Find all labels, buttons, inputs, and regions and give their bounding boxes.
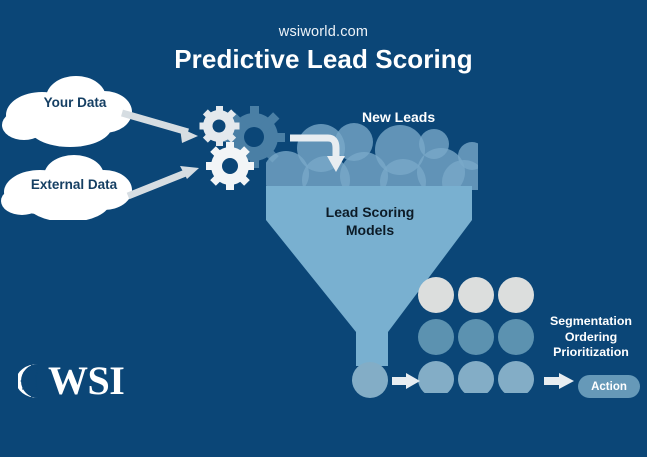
grid-circle bbox=[418, 361, 454, 393]
gear-small-top-icon bbox=[200, 106, 240, 146]
outcome-line-segmentation: Segmentation bbox=[539, 314, 643, 330]
funnel-label-line1: Lead Scoring bbox=[300, 203, 440, 221]
grid-circle bbox=[498, 319, 534, 355]
wsi-logo: WSI bbox=[18, 361, 124, 401]
action-badge[interactable]: Action bbox=[578, 375, 640, 398]
new-leads-label: New Leads bbox=[362, 109, 435, 125]
cloud-label-your-data: Your Data bbox=[20, 95, 130, 110]
arrow-grid-to-action bbox=[544, 370, 576, 392]
wsi-wordmark: WSI bbox=[48, 361, 124, 401]
output-grid bbox=[418, 277, 536, 393]
outcome-list: Segmentation Ordering Prioritization bbox=[539, 314, 643, 361]
arrow-external-data-to-gears bbox=[128, 166, 199, 196]
lead-circle bbox=[419, 129, 449, 159]
grid-row-teal bbox=[418, 319, 534, 355]
grid-row-light bbox=[418, 277, 534, 313]
arrow-your-data-to-gears bbox=[122, 113, 198, 143]
funnel-label: Lead Scoring Models bbox=[300, 203, 440, 239]
grid-circle bbox=[418, 319, 454, 355]
funnel-output-circle bbox=[350, 361, 390, 401]
outcome-line-ordering: Ordering bbox=[539, 330, 643, 346]
funnel-label-line2: Models bbox=[300, 221, 440, 239]
outcome-line-prioritization: Prioritization bbox=[539, 345, 643, 361]
grid-circle bbox=[418, 277, 454, 313]
grid-circle bbox=[498, 277, 534, 313]
infographic-canvas: wsiworld.com Predictive Lead Scoring bbox=[0, 0, 647, 457]
cloud-label-external-data: External Data bbox=[13, 177, 135, 192]
grid-circle bbox=[458, 277, 494, 313]
gear-bottom-icon bbox=[206, 142, 254, 190]
cloud-your-data bbox=[2, 76, 132, 147]
site-url: wsiworld.com bbox=[0, 24, 647, 40]
grid-row-blue bbox=[418, 361, 534, 393]
grid-circle bbox=[458, 319, 494, 355]
arrow-into-funnel bbox=[288, 128, 358, 176]
arrow-output-to-grid bbox=[392, 370, 422, 392]
grid-circle bbox=[458, 361, 494, 393]
grid-circle bbox=[498, 361, 534, 393]
